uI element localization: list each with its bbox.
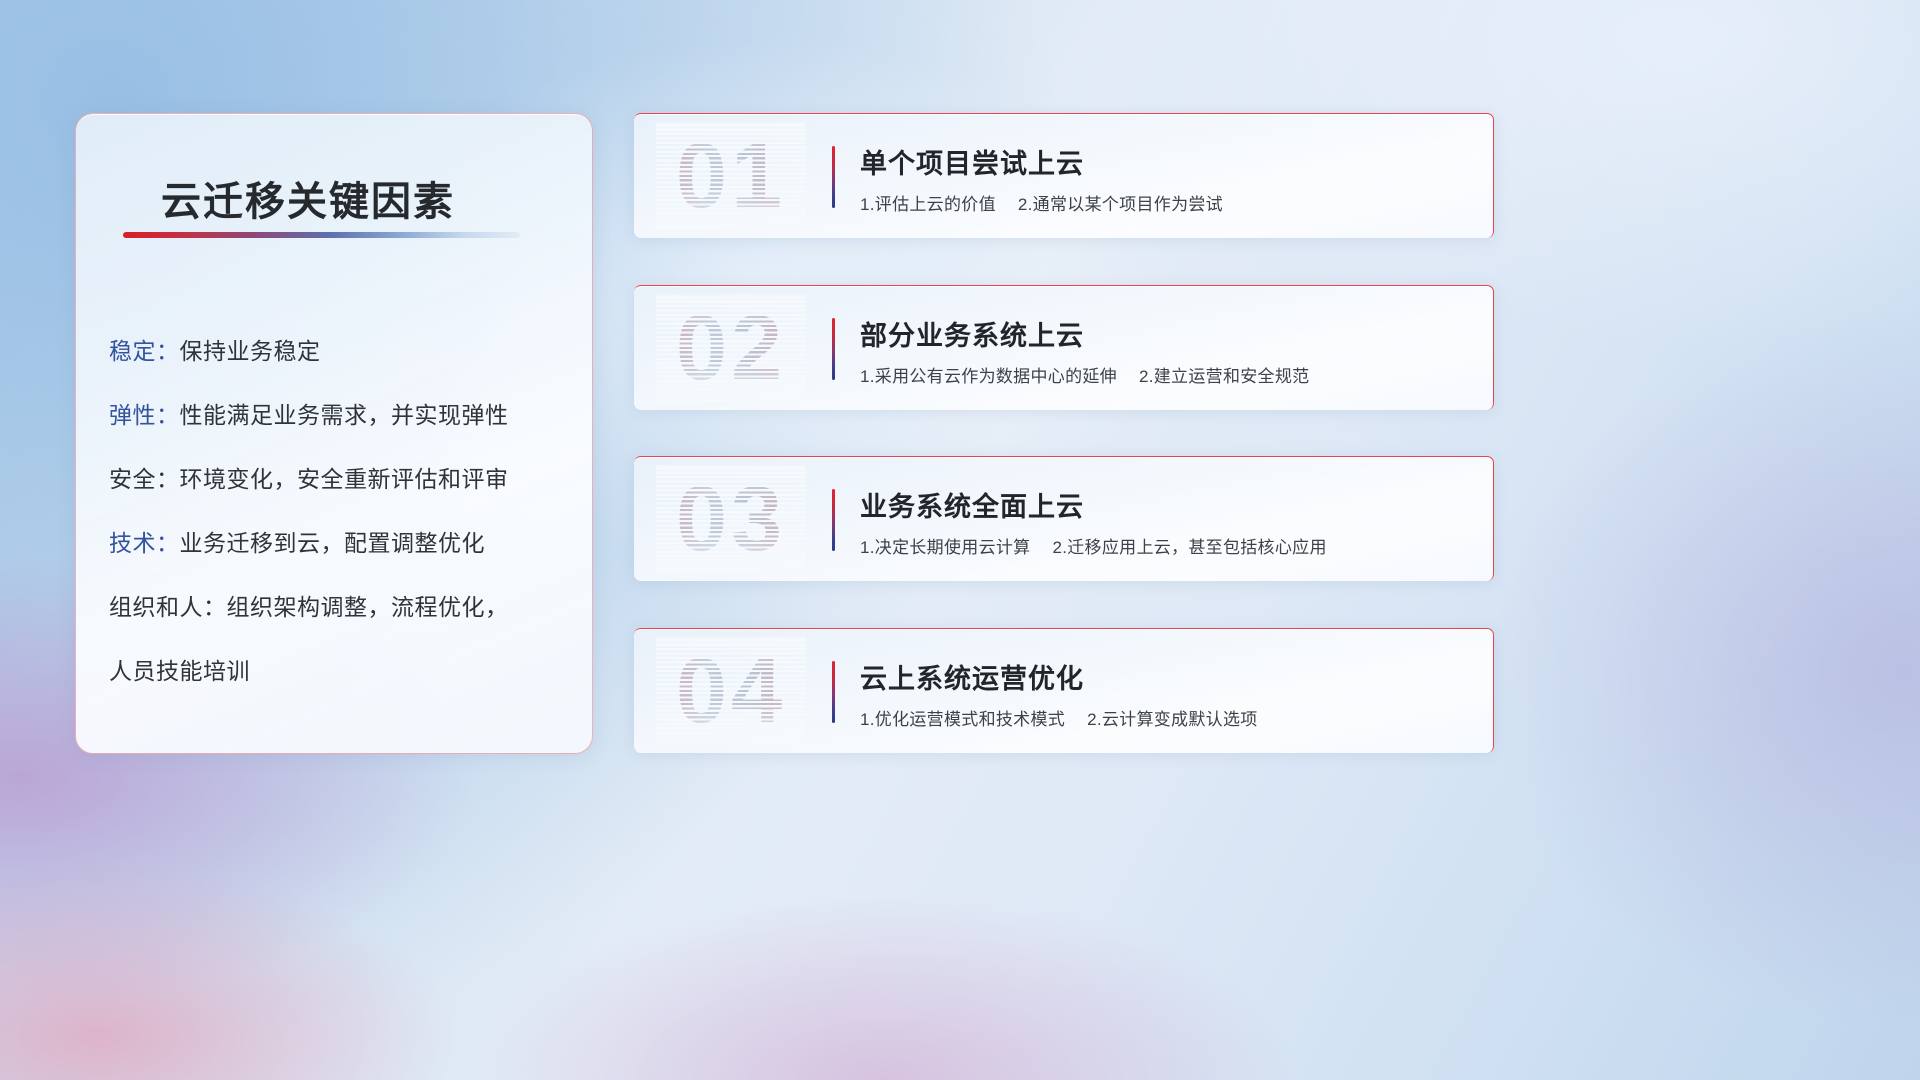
stage-card-01[interactable]: 01 单个项目尝试上云 1.评估上云的价值2.通常以某个项目作为尝试 <box>634 113 1494 238</box>
stage-number-glyph: 01 <box>656 122 806 230</box>
stage-card-title: 云上系统运营优化 <box>860 657 1084 696</box>
key-factors-panel: 云迁移关键因素 稳定：保持业务稳定 弹性：性能满足业务需求，并实现弹性 安全：环… <box>75 113 593 754</box>
stage-card-03[interactable]: 03 业务系统全面上云 1.决定长期使用云计算2.迁移应用上云，甚至包括核心应用 <box>634 456 1494 581</box>
accent-divider-bar <box>832 146 835 208</box>
stage-point-2: 2.云计算变成默认选项 <box>1087 710 1257 729</box>
list-item: 组织和人：组织架构调整，流程优化， <box>109 575 574 639</box>
list-item-text: 业务迁移到云，配置调整优化 <box>180 530 486 556</box>
list-item: 人员技能培训 <box>109 639 574 703</box>
stage-card-subtitle: 1.决定长期使用云计算2.迁移应用上云，甚至包括核心应用 <box>860 533 1327 558</box>
stage-card-title: 部分业务系统上云 <box>860 314 1084 353</box>
stage-point-2: 2.建立运营和安全规范 <box>1139 367 1309 386</box>
list-item: 安全：环境变化，安全重新评估和评审 <box>109 447 574 511</box>
stage-point-1: 1.优化运营模式和技术模式 <box>860 710 1065 729</box>
list-item-text: 组织架构调整，流程优化， <box>227 594 509 620</box>
list-item-text: 保持业务稳定 <box>180 338 321 364</box>
stage-point-1: 1.决定长期使用云计算 <box>860 538 1030 557</box>
accent-divider-bar <box>832 661 835 723</box>
stage-point-1: 1.采用公有云作为数据中心的延伸 <box>860 367 1117 386</box>
list-item-text: 性能满足业务需求，并实现弹性 <box>180 402 509 428</box>
stage-number-02: 02 <box>656 294 806 402</box>
stage-number-04: 04 <box>656 637 806 745</box>
stage-card-subtitle: 1.评估上云的价值2.通常以某个项目作为尝试 <box>860 190 1223 215</box>
stage-number-glyph: 03 <box>656 465 806 573</box>
list-item-label: 技术： <box>109 530 180 556</box>
slide-stage: 云迁移关键因素 稳定：保持业务稳定 弹性：性能满足业务需求，并实现弹性 安全：环… <box>0 0 1920 1080</box>
panel-title: 云迁移关键因素 <box>161 169 455 227</box>
stage-card-title: 单个项目尝试上云 <box>860 142 1084 181</box>
list-item-label: 稳定： <box>109 338 180 364</box>
stage-card-title: 业务系统全面上云 <box>860 485 1084 524</box>
stage-point-2: 2.通常以某个项目作为尝试 <box>1018 195 1223 214</box>
accent-divider-bar <box>832 318 835 380</box>
stage-number-glyph: 04 <box>656 637 806 745</box>
stage-card-subtitle: 1.优化运营模式和技术模式2.云计算变成默认选项 <box>860 705 1258 730</box>
list-item-label: 弹性： <box>109 402 180 428</box>
stage-point-2: 2.迁移应用上云，甚至包括核心应用 <box>1052 538 1326 557</box>
key-factors-list: 稳定：保持业务稳定 弹性：性能满足业务需求，并实现弹性 安全：环境变化，安全重新… <box>109 319 574 703</box>
list-item-label: 组织和人： <box>109 594 227 620</box>
list-item-text: 环境变化，安全重新评估和评审 <box>180 466 509 492</box>
stage-card-04[interactable]: 04 云上系统运营优化 1.优化运营模式和技术模式2.云计算变成默认选项 <box>634 628 1494 753</box>
list-item: 弹性：性能满足业务需求，并实现弹性 <box>109 383 574 447</box>
stage-number-glyph: 02 <box>656 294 806 402</box>
stage-card-02[interactable]: 02 部分业务系统上云 1.采用公有云作为数据中心的延伸2.建立运营和安全规范 <box>634 285 1494 410</box>
accent-divider-bar <box>832 489 835 551</box>
list-item: 技术：业务迁移到云，配置调整优化 <box>109 511 574 575</box>
list-item: 稳定：保持业务稳定 <box>109 319 574 383</box>
list-item-label: 安全： <box>109 466 180 492</box>
list-item-text: 人员技能培训 <box>109 658 250 684</box>
stage-point-1: 1.评估上云的价值 <box>860 195 996 214</box>
stage-number-03: 03 <box>656 465 806 573</box>
panel-title-underline <box>123 232 520 238</box>
stage-number-01: 01 <box>656 122 806 230</box>
stage-card-subtitle: 1.采用公有云作为数据中心的延伸2.建立运营和安全规范 <box>860 362 1309 387</box>
